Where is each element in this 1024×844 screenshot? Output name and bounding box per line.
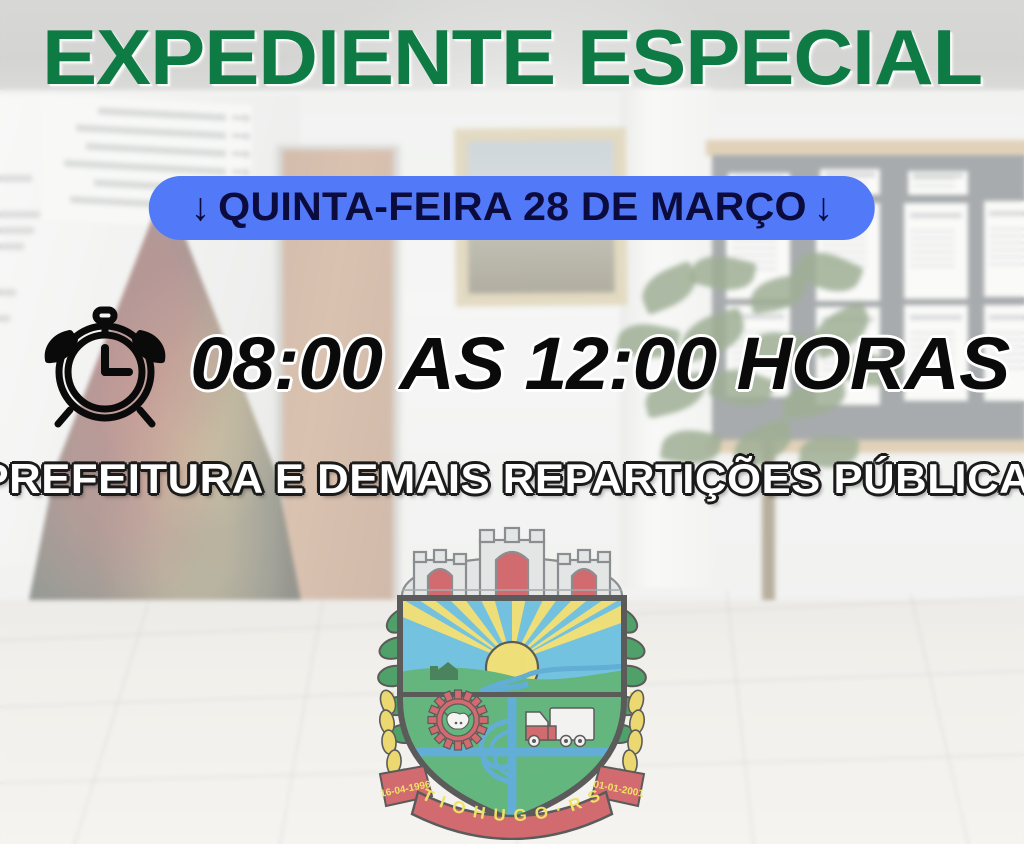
subtitle: PREFEITURA E DEMAIS REPARTIÇÕES PÚBLICAS [0,458,1024,500]
coat-of-arms: 16-04-1996 01-01-2001 T I O H U G O · R … [362,524,662,840]
alarm-clock-icon [30,300,180,428]
date-banner: ↓ QUINTA-FEIRA 28 DE MARÇO ↓ [149,176,875,240]
truck-icon [526,708,594,747]
arrow-down-right-icon: ↓ [814,188,834,227]
arrow-down-left-icon: ↓ [191,188,211,227]
date-banner-label: QUINTA-FEIRA 28 DE MARÇO [218,187,807,227]
poster-canvas: EXPEDIENTE ESPECIAL ↓ QUINTA-FEIRA 28 DE… [0,0,1024,844]
poster-content: EXPEDIENTE ESPECIAL ↓ QUINTA-FEIRA 28 DE… [0,0,1024,844]
time-row: 08:00 AS 12:00 HORAS [0,300,1024,428]
page-title: EXPEDIENTE ESPECIAL [0,18,1024,96]
cow-in-gear-icon [428,690,488,750]
time-label: 08:00 AS 12:00 HORAS [191,327,1010,401]
mural-crown [402,528,622,606]
